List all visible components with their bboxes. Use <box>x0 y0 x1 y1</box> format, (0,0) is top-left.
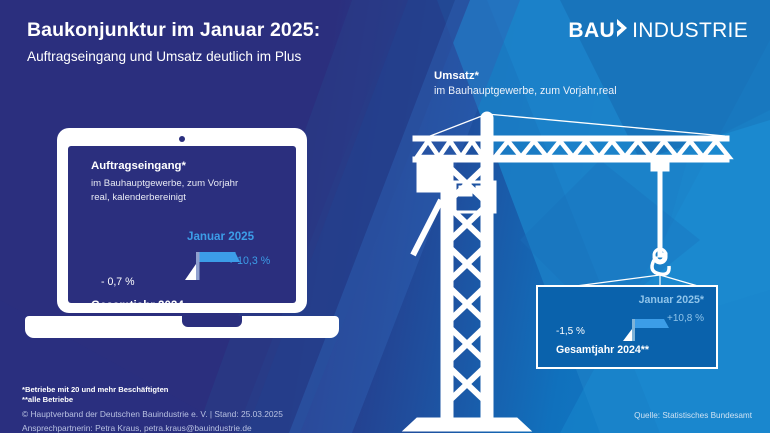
crane-main-jib <box>491 136 729 162</box>
auftragseingang-title: Auftragseingang* <box>91 160 186 172</box>
laptop-screen: Auftragseingang* im Bauhauptgewerbe, zum… <box>68 146 296 303</box>
auftragseingang-subtitle: im Bauhauptgewerbe, zum Vorjahr real, ka… <box>91 177 281 205</box>
umsatz-label-block: Umsatz* im Bauhauptgewerbe, zum Vorjahr,… <box>434 70 617 97</box>
footnote-2: **alle Betriebe <box>22 395 442 405</box>
infographic-canvas: Baukonjunktur im Januar 2025: Auftragsei… <box>0 0 770 433</box>
auftragseingang-current-period-label: Januar 2025 <box>187 230 254 243</box>
chevron-right-icon <box>616 18 629 42</box>
laptop-lid: Auftragseingang* im Bauhauptgewerbe, zum… <box>57 128 307 313</box>
umsatz-previous-period-label: Gesamtjahr 2024** <box>556 344 649 356</box>
auftragseingang-subtitle-line1: im Bauhauptgewerbe, zum Vorjahr <box>91 178 238 189</box>
page-subtitle: Auftragseingang und Umsatz deutlich im P… <box>27 49 447 66</box>
umsatz-previous-value: -1,5 % <box>556 326 585 337</box>
header-title-block: Baukonjunktur im Januar 2025: Auftragsei… <box>27 18 447 66</box>
footnote-1: *Betriebe mit 20 und mehr Beschäftigten <box>22 385 442 395</box>
crane-hook-assembly <box>651 160 669 274</box>
bauindustrie-logo: BAU INDUSTRIE <box>568 18 748 42</box>
contact-line: Ansprechpartnerin: Petra Kraus, petra.kr… <box>22 422 442 433</box>
page-title: Baukonjunktur im Januar 2025: <box>27 18 447 42</box>
umsatz-current-period-label: Januar 2025* <box>639 294 704 306</box>
umsatz-current-value: +10,8 % <box>667 313 704 324</box>
construction-crane-illustration <box>395 105 770 433</box>
laptop-camera-icon <box>179 136 185 142</box>
umsatz-title: Umsatz* <box>434 70 617 82</box>
auftragseingang-current-value: + 10,3 % <box>228 255 270 267</box>
auftragseingang-subtitle-line2: real, kalenderbereinigt <box>91 192 186 203</box>
umsatz-subtitle: im Bauhauptgewerbe, zum Vorjahr,real <box>434 85 617 97</box>
umsatz-bar-graphic <box>621 315 673 347</box>
auftragseingang-laptop: Auftragseingang* im Bauhauptgewerbe, zum… <box>57 128 349 338</box>
footer-block: *Betriebe mit 20 und mehr Beschäftigten … <box>22 385 442 433</box>
auftragseingang-previous-value: - 0,7 % <box>101 276 135 288</box>
source-attribution: Quelle: Statistisches Bundesamt <box>634 411 752 420</box>
laptop-base-notch <box>182 316 242 327</box>
copyright-line: © Hauptverband der Deutschen Bauindustri… <box>22 408 442 420</box>
logo-bau-text: BAU <box>568 20 615 41</box>
logo-industrie-text: INDUSTRIE <box>632 20 748 41</box>
auftragseingang-bar-graphic <box>183 248 243 286</box>
umsatz-hanging-panel: Januar 2025* +10,8 % -1,5 % Gesamtjahr 2… <box>536 285 718 369</box>
auftragseingang-previous-period-label: Gesamtjahr 2024 <box>91 299 184 312</box>
